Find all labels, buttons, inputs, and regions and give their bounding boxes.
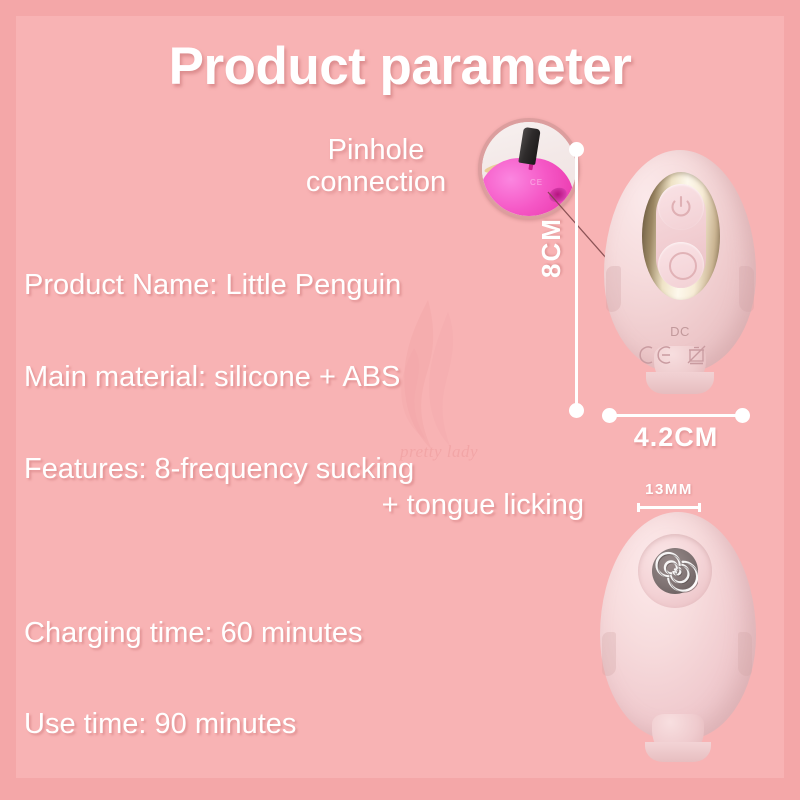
dc-label: DC [598, 324, 762, 339]
width-measurement-line [602, 408, 750, 423]
spec-features-text: Features: 8-frequency sucking [24, 453, 414, 485]
nozzle-measurement-label: 13MM [627, 481, 711, 498]
product-bot-wing-right [738, 632, 752, 676]
spec-use-time: Use time: 90 minutes [24, 672, 584, 744]
spec-charging-time-text: Charging time: 60 minutes [24, 617, 363, 649]
pinhole-callout-label: Pinhole connection [266, 135, 486, 199]
product-image-front-view [596, 512, 764, 780]
weee-bin-icon [688, 346, 705, 364]
spec-main-material-text: Main material: silicone + ABS [24, 361, 400, 393]
height-measurement-label: 8CM [536, 217, 567, 278]
product-bot-base [645, 742, 711, 762]
inset-ce-mark-icon: CE [530, 178, 543, 187]
spec-features: Features: 8-frequency sucking + tongue l… [24, 416, 584, 560]
width-dot-left [602, 408, 617, 423]
height-measurement-line [569, 142, 583, 418]
spec-main-material: Main material: silicone + ABS [24, 324, 584, 396]
page-title: Product parameter [0, 36, 800, 97]
spec-list: Product Name: Little Penguin Main materi… [24, 232, 584, 800]
spec-product-name: Product Name: Little Penguin [24, 232, 584, 304]
height-line [575, 149, 578, 411]
power-icon [668, 194, 694, 220]
width-line [609, 414, 743, 417]
spec-charging-time: Charging time: 60 minutes [24, 580, 584, 652]
nozzle-measurement-line [637, 503, 701, 512]
pinhole-callout-line2: connection [266, 167, 486, 199]
certification-marks [598, 344, 762, 371]
pinhole-callout-line1: Pinhole [266, 135, 486, 167]
product-top-base [646, 372, 714, 394]
pinhole-magnifier-inset: CE [478, 118, 580, 220]
nozzle-cap-left [637, 503, 640, 512]
product-top-wing-right [739, 266, 754, 312]
height-dot-bottom [569, 403, 584, 418]
spec-product-name-text: Product Name: Little Penguin [24, 269, 401, 301]
product-bot-wing-left [602, 632, 616, 676]
width-dot-right [735, 408, 750, 423]
spiral-nozzle-icon [652, 548, 698, 594]
circle-button-icon [669, 252, 697, 280]
height-dot-top [569, 142, 584, 157]
product-image-back-view: DC [598, 150, 762, 412]
width-measurement-label: 4.2CM [602, 422, 750, 453]
nozzle-line [637, 506, 701, 509]
ce-and-weee-icons [636, 344, 724, 366]
product-top-wing-left [606, 266, 621, 312]
spec-waterproof: Waterproof function: whole body waterpro… [24, 763, 584, 800]
spec-features-text2: + tongue licking [24, 488, 584, 524]
spec-use-time-text: Use time: 90 minutes [24, 708, 296, 740]
nozzle-cap-right [698, 503, 701, 512]
product-parameter-page: pretty lady Product parameter Product Na… [0, 0, 800, 800]
